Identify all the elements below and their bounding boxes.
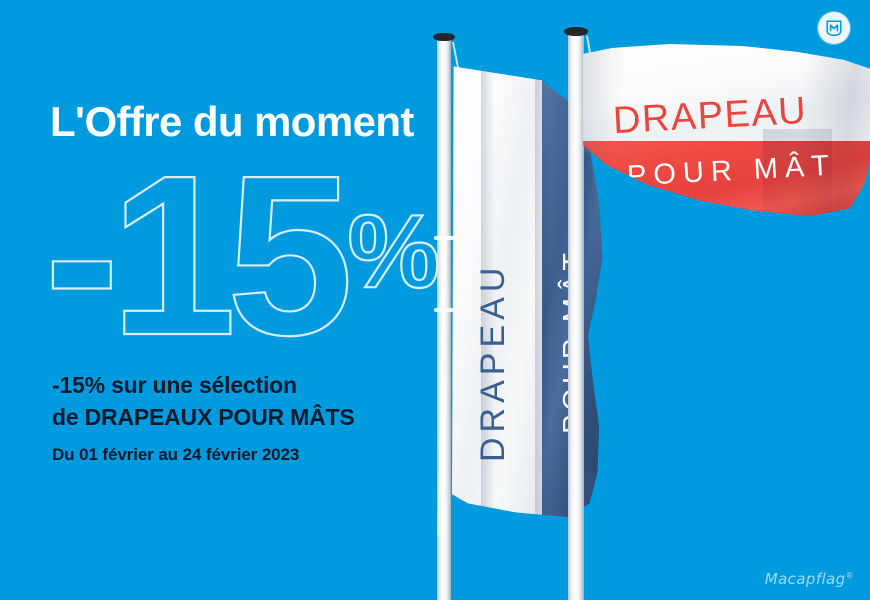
macap-m-icon[interactable]: [818, 12, 850, 44]
flag-vertical-text-drapeau: DRAPEAU: [474, 263, 513, 462]
discount-amount: -15: [44, 158, 344, 354]
flagpole-left-cap-icon: [433, 33, 455, 41]
discount-display: -15 %: [44, 158, 440, 354]
offer-description-line-1: -15% sur une sélection: [52, 370, 355, 402]
flagpole-right-cap-icon: [564, 27, 588, 36]
offer-description: -15% sur une sélection de DRAPEAUX POUR …: [52, 370, 355, 433]
watermark-text: Macapflag: [765, 570, 846, 588]
flagpole-right: [568, 30, 584, 600]
offer-validity-dates: Du 01 février au 24 février 2023: [52, 445, 299, 465]
promo-banner: DRAPEAU POUR MÂT DRAPEAU POUR MÂT L'Offr…: [0, 0, 870, 600]
offer-description-line-2: de DRAPEAUX POUR MÂTS: [52, 402, 355, 434]
flag-horizontal: DRAPEAU POUR MÂT: [583, 42, 870, 240]
flag-photograph: DRAPEAU POUR MÂT DRAPEAU POUR MÂT: [400, 0, 870, 600]
discount-percent-sign: %: [348, 200, 440, 304]
macapflag-watermark: Macapflag®: [765, 570, 854, 588]
watermark-registered-mark: ®: [846, 571, 854, 580]
